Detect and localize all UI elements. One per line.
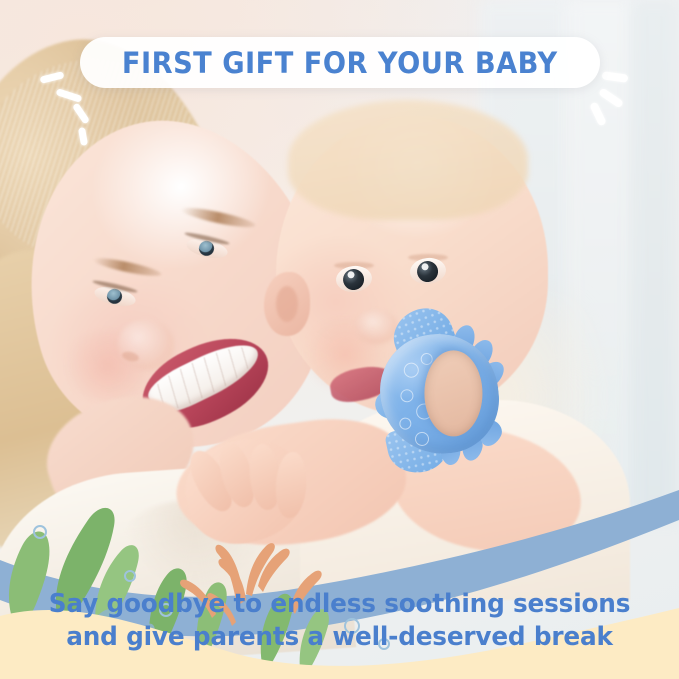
teether-center-opening xyxy=(424,350,482,436)
teether-bump xyxy=(399,417,412,430)
baby-ear-inner xyxy=(276,286,298,322)
baby-hair xyxy=(288,100,528,220)
product-banner: FIRST GIFT FOR YOUR BABY Say goodbye to … xyxy=(0,0,679,679)
teether-bump xyxy=(400,389,414,403)
caption-line-1: Say goodbye to endless soothing sessions xyxy=(10,588,669,621)
caption-block: Say goodbye to endless soothing sessions… xyxy=(0,588,679,654)
headline-text: FIRST GIFT FOR YOUR BABY xyxy=(122,46,558,80)
teether-bump xyxy=(414,431,429,446)
window-light-panel xyxy=(630,0,679,520)
teether-bump xyxy=(403,362,419,378)
caption-line-2: and give parents a well-deserved break xyxy=(10,621,669,654)
headline-badge: FIRST GIFT FOR YOUR BABY xyxy=(80,37,600,88)
